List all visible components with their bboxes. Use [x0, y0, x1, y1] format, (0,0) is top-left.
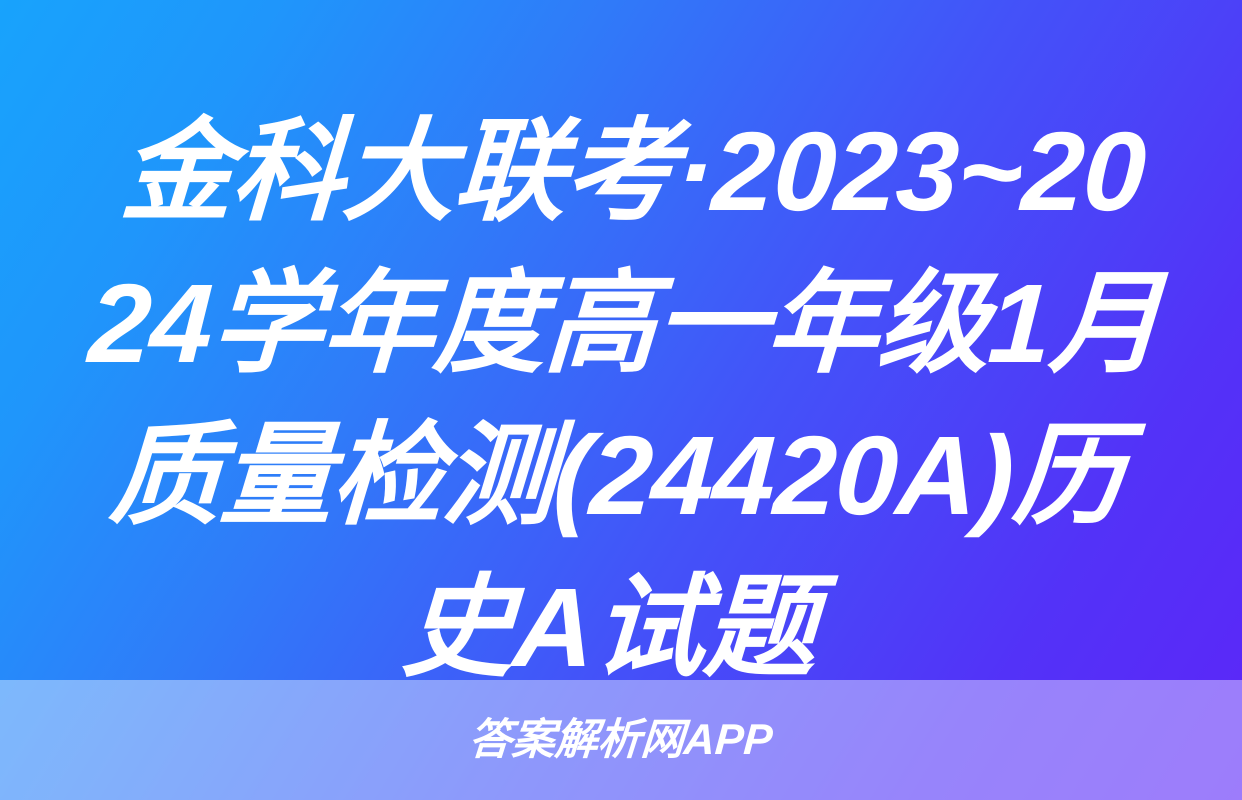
page-title: 金科大联考·2023~2024学年度高一年级1月质量检测(24420A)历史A试… [65, 96, 1177, 704]
exam-cover-card: 金科大联考·2023~2024学年度高一年级1月质量检测(24420A)历史A试… [0, 0, 1242, 800]
title-block: 金科大联考·2023~2024学年度高一年级1月质量检测(24420A)历史A试… [60, 96, 1182, 680]
footer-brand-text: 答案解析网APP [468, 716, 775, 764]
footer-brand-band: 答案解析网APP [0, 680, 1242, 800]
